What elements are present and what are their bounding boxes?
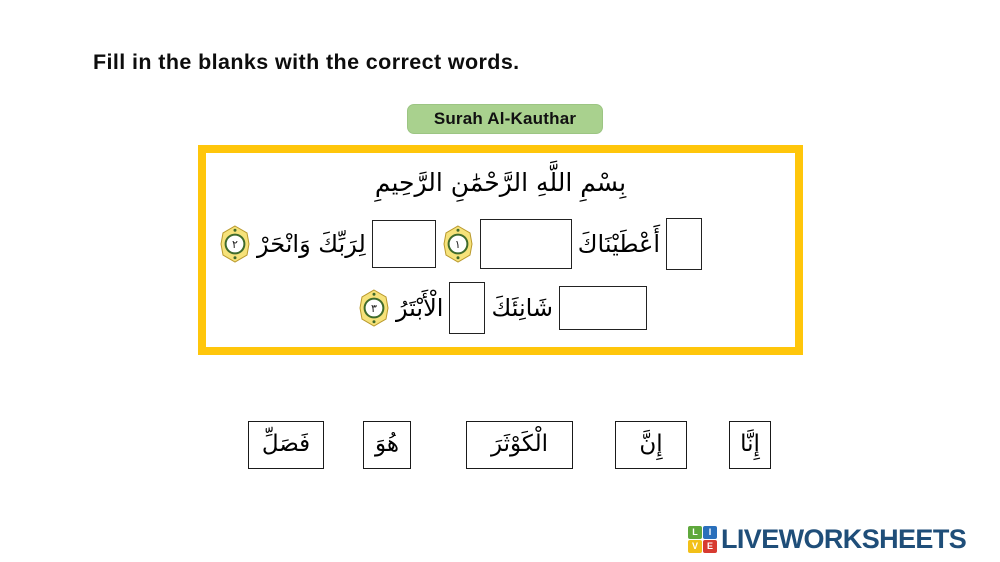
word-chip-label: فَصَلِّ — [262, 433, 310, 458]
bismillah-line: بِسْمِ اللَّهِ الرَّحْمَٰنِ الرَّحِيمِ — [206, 169, 795, 198]
blank-2[interactable] — [480, 219, 572, 269]
verse-panel: بِسْمِ اللَّهِ الرَّحْمَٰنِ الرَّحِيمِ ٢… — [198, 145, 803, 355]
verse-line-2: ٣ الْأَبْتَرُ شَانِئَكَ — [216, 279, 789, 337]
word-chip-label: إِنَّا — [740, 433, 760, 458]
ayah-marker-1-icon: ١ — [443, 225, 473, 263]
ayah-number-3: ٣ — [359, 289, 389, 327]
logo-tile-l: L — [688, 526, 702, 539]
verse-word-lirabbika: لِرَبِّكَ وَانْحَرْ — [254, 232, 369, 256]
ayah-number-2: ٢ — [220, 225, 250, 263]
worksheet-page: { "instruction": "Fill in the blanks wit… — [0, 0, 1000, 562]
word-chip-inna[interactable]: إِنَّ — [615, 421, 687, 469]
page-title: Fill in the blanks with the correct word… — [93, 50, 520, 75]
logo-tile-v: V — [688, 540, 702, 553]
liveworksheets-logo: L I V E LIVEWORKSHEETS — [688, 524, 966, 555]
verse-word-atayna: أَعْطَيْنَاكَ — [575, 232, 663, 256]
word-chip-huwa[interactable]: هُوَ — [363, 421, 411, 469]
verse-word-shaniaka: شَانِئَكَ — [488, 296, 556, 320]
blank-4[interactable] — [559, 286, 647, 330]
ayah-number-1: ١ — [443, 225, 473, 263]
word-chip-label: إِنَّ — [639, 433, 662, 458]
word-chip-label: هُوَ — [375, 433, 399, 458]
word-chip-innaa[interactable]: إِنَّا — [729, 421, 771, 469]
logo-tiles-icon: L I V E — [688, 526, 717, 553]
blank-5[interactable] — [449, 282, 485, 334]
word-chip-fasalli[interactable]: فَصَلِّ — [248, 421, 324, 469]
blank-1[interactable] — [666, 218, 702, 270]
word-chip-label: الْكَوْثَرَ — [491, 433, 548, 458]
word-chip-alkauthar[interactable]: الْكَوْثَرَ — [466, 421, 573, 469]
bismillah-text: بِسْمِ اللَّهِ الرَّحْمَٰنِ الرَّحِيمِ — [375, 170, 626, 195]
logo-wordmark: LIVEWORKSHEETS — [721, 524, 966, 555]
ayah-marker-3-icon: ٣ — [359, 289, 389, 327]
status-badge: Surah Al-Kauthar — [407, 104, 603, 134]
blank-3[interactable] — [372, 220, 436, 268]
word-bank: فَصَلِّ هُوَ الْكَوْثَرَ إِنَّ إِنَّا — [240, 421, 785, 477]
verse-word-alabtar: الْأَبْتَرُ — [393, 296, 447, 320]
surah-badge-label: Surah Al-Kauthar — [434, 109, 576, 129]
verse-line-1: ٢ لِرَبِّكَ وَانْحَرْ ١ أَعْطَيْنَاكَ — [216, 215, 789, 273]
logo-tile-e: E — [703, 540, 717, 553]
logo-tile-i: I — [703, 526, 717, 539]
ayah-marker-2-icon: ٢ — [220, 225, 250, 263]
